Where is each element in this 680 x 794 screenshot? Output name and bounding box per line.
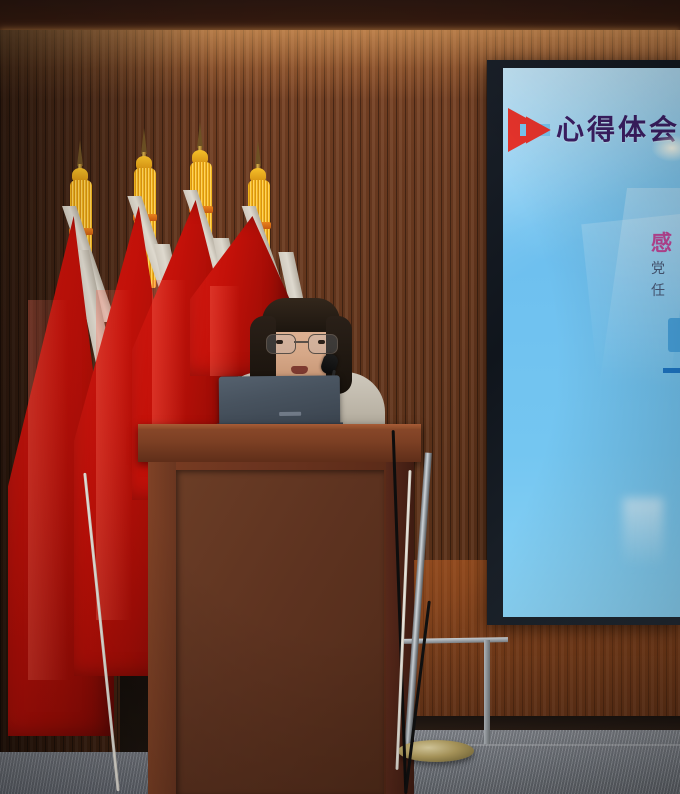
slide-subtitle-line-3: 任	[651, 280, 665, 300]
slide-blue-shape	[668, 318, 680, 352]
projection-screen-display: 心得体会 感 党 任	[503, 68, 680, 617]
laptop-screen-back	[219, 375, 341, 426]
slide-subtitle-line-2: 党	[651, 258, 665, 278]
laptop-logo	[279, 412, 301, 416]
chevron-arrow-icon	[508, 108, 554, 152]
flag-highlight	[28, 300, 68, 680]
podium-top-edge-highlight	[138, 424, 421, 429]
screen-light-reflection	[651, 134, 680, 162]
photo-scene: 心得体会 感 党 任	[0, 0, 680, 794]
podium-left-edge	[148, 462, 176, 794]
flag-highlight	[96, 290, 132, 620]
flag-finial-icon	[197, 122, 203, 148]
mic-stand-boom-vertical	[484, 640, 490, 744]
speaker-mouth	[291, 366, 308, 374]
flag-finial-icon	[77, 140, 83, 166]
podium-front-panel	[176, 470, 384, 794]
podium-top-ledge	[138, 424, 421, 462]
flag-finial-icon	[141, 128, 147, 154]
slide-light-streak	[623, 498, 663, 568]
slide-subtitle-highlight: 感	[651, 227, 672, 257]
slide-blue-bar	[663, 368, 680, 373]
glasses-icon	[266, 334, 338, 352]
wall-baseboard	[395, 716, 680, 730]
flag-finial-icon	[255, 140, 261, 166]
